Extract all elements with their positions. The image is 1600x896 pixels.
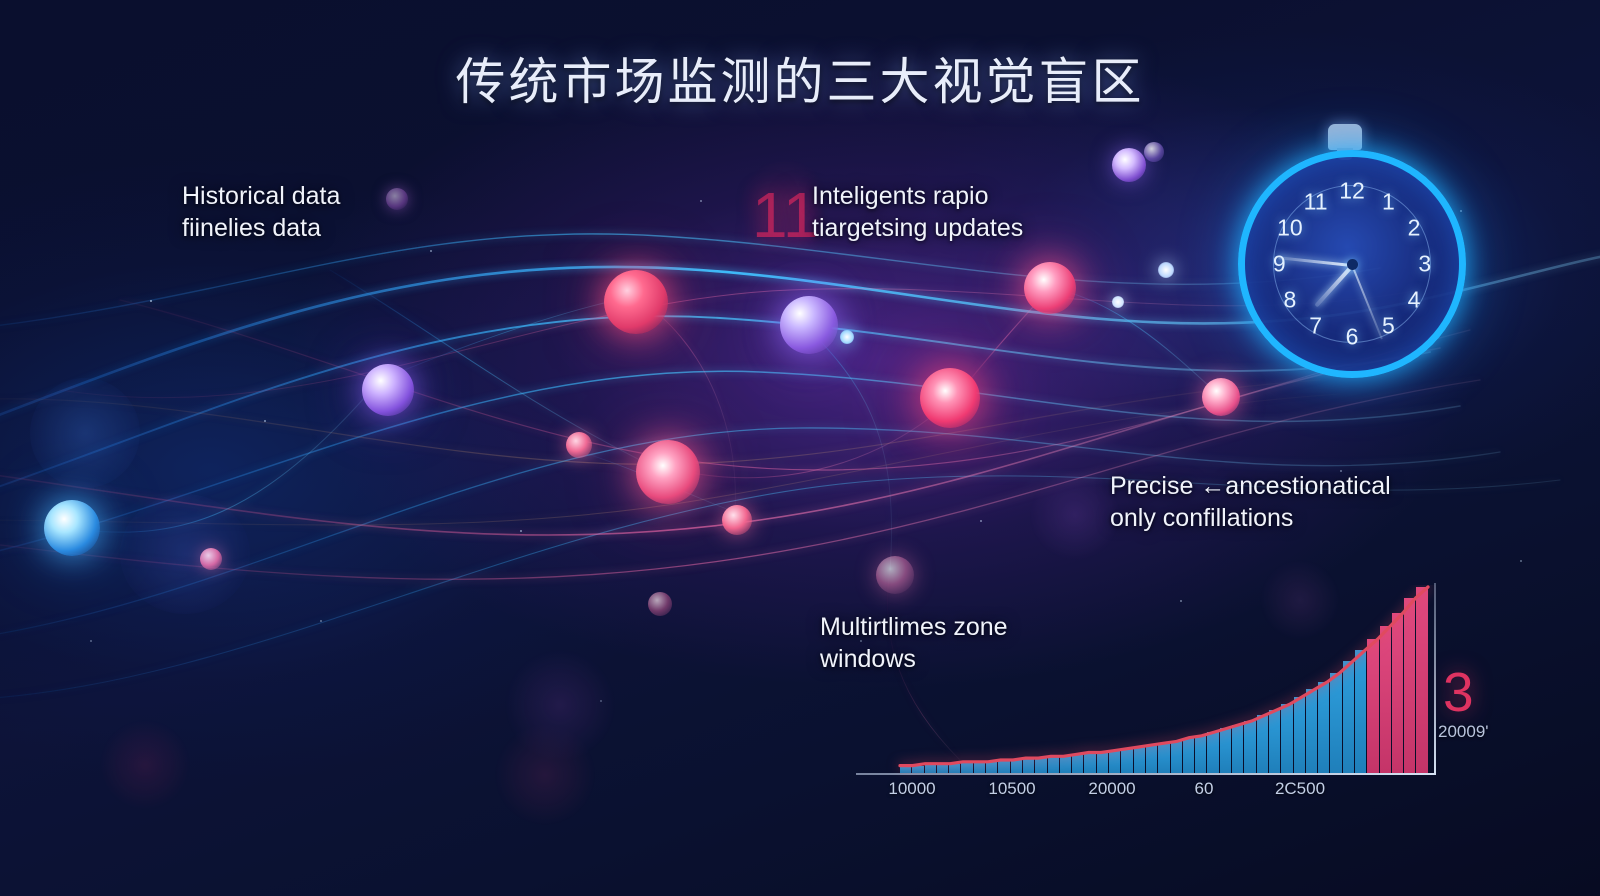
star-speck	[150, 300, 152, 302]
chart-bar	[1171, 741, 1182, 773]
chart-bar	[986, 762, 997, 773]
chart-bar	[1306, 689, 1317, 773]
chart-bar	[1244, 721, 1255, 773]
chart-x-tick: 60	[1195, 779, 1214, 799]
chart-bar	[998, 760, 1009, 773]
clock-number: 8	[1284, 287, 1297, 314]
chart-bar	[1109, 751, 1120, 773]
chart-x-tick: 2C500	[1275, 779, 1325, 799]
annotation-intelligent-radio-targeting: Inteligents rapio tiargetsing updates	[812, 180, 1023, 244]
clock-crown-icon	[1328, 124, 1362, 150]
chart-bar	[1367, 639, 1378, 773]
chart-bar	[1195, 736, 1206, 773]
chart-bar	[900, 766, 911, 773]
chart-bar	[937, 764, 948, 773]
chart-bar	[1220, 728, 1231, 773]
clock-number: 11	[1304, 188, 1328, 215]
chart-bar	[1330, 673, 1341, 773]
annotation-line-2: fiinelies data	[182, 212, 340, 244]
chart-bar	[974, 762, 985, 773]
chart-bar	[1048, 756, 1059, 773]
stopwatch-clock: 12 1 2 3 4 5 6 7 8 9 10 11	[1230, 120, 1460, 380]
annotation-line-1: Historical data	[182, 182, 340, 210]
chart-bars	[900, 587, 1428, 773]
clock-number: 12	[1339, 178, 1365, 205]
chart-bar	[1416, 587, 1427, 773]
clock-number: 10	[1277, 214, 1303, 241]
annotation-line-2: only confillations	[1110, 502, 1391, 534]
chart-bar	[1294, 697, 1305, 773]
clock-number: 1	[1382, 188, 1395, 215]
chart-bar	[1257, 715, 1268, 773]
star-speck	[700, 200, 702, 202]
chart-x-axis	[856, 773, 1434, 775]
chart-bar	[961, 762, 972, 773]
infographic-canvas: 传统市场监测的三大视觉盲区 11 Historical data fiineli…	[0, 0, 1600, 896]
chart-bar	[1023, 758, 1034, 773]
chart-bar	[1146, 745, 1157, 773]
chart-bar	[1392, 613, 1403, 773]
chart-bar	[1060, 756, 1071, 773]
chart-bar	[1121, 749, 1132, 773]
chart-x-tick: 10500	[988, 779, 1035, 799]
clock-number: 4	[1408, 287, 1421, 314]
chart-bar	[1269, 710, 1280, 773]
star-speck	[430, 250, 432, 252]
clock-number: 3	[1418, 251, 1431, 278]
annotation-precise-ancestionatical: Precise ←ancestionatical only confillati…	[1110, 470, 1391, 534]
chart-x-tick-labels: 100001050020000602C500	[856, 777, 1434, 805]
chart-bar	[1072, 754, 1083, 773]
clock-number: 2	[1408, 214, 1421, 241]
chart-bar	[1404, 598, 1415, 773]
chart-y-axis	[1434, 583, 1436, 775]
annotation-line-1: Precise ←ancestionatical	[1110, 472, 1391, 500]
chart-bar	[925, 764, 936, 773]
clock-number: 6	[1346, 323, 1359, 350]
page-title: 传统市场监测的三大视觉盲区	[0, 42, 1600, 114]
star-speck	[1460, 210, 1462, 212]
chart-bar	[1183, 738, 1194, 773]
chart-bar	[1035, 758, 1046, 773]
chart-bar	[1355, 650, 1366, 773]
chart-bar	[1084, 753, 1095, 773]
chart-bar	[1134, 747, 1145, 773]
star-speck	[1520, 560, 1522, 562]
chart-bar	[949, 764, 960, 773]
chart-bar	[1097, 753, 1108, 773]
chart-bar	[1380, 626, 1391, 773]
chart-bar	[1207, 732, 1218, 773]
clock-number: 7	[1309, 313, 1322, 340]
chart-x-tick: 10000	[888, 779, 935, 799]
clock-number: 9	[1273, 251, 1286, 278]
annotation-line-2: tiargetsing updates	[812, 212, 1023, 244]
chart-bar	[1011, 760, 1022, 773]
annotation-historical-data: Historical data fiinelies data	[182, 180, 340, 244]
star-speck	[520, 530, 522, 532]
clock-number: 5	[1382, 313, 1395, 340]
star-speck	[980, 520, 982, 522]
chart-bar	[1343, 661, 1354, 773]
chart-bar	[1232, 725, 1243, 773]
clock-face: 12 1 2 3 4 5 6 7 8 9 10 11	[1238, 150, 1466, 378]
chart-bar	[1318, 682, 1329, 773]
chart-x-tick: 20000	[1088, 779, 1135, 799]
chart-callout-sub: 20009'	[1438, 722, 1489, 742]
chart-bar	[1158, 743, 1169, 773]
chart-bar	[912, 766, 923, 773]
clock-center-pin	[1347, 259, 1358, 270]
star-speck	[264, 420, 266, 422]
chart-callout-value: 3	[1443, 660, 1474, 724]
chart-bar	[1281, 704, 1292, 773]
annotation-line-1: Inteligents rapio	[812, 182, 989, 210]
growth-bar-chart: 100001050020000602C500	[856, 585, 1436, 805]
